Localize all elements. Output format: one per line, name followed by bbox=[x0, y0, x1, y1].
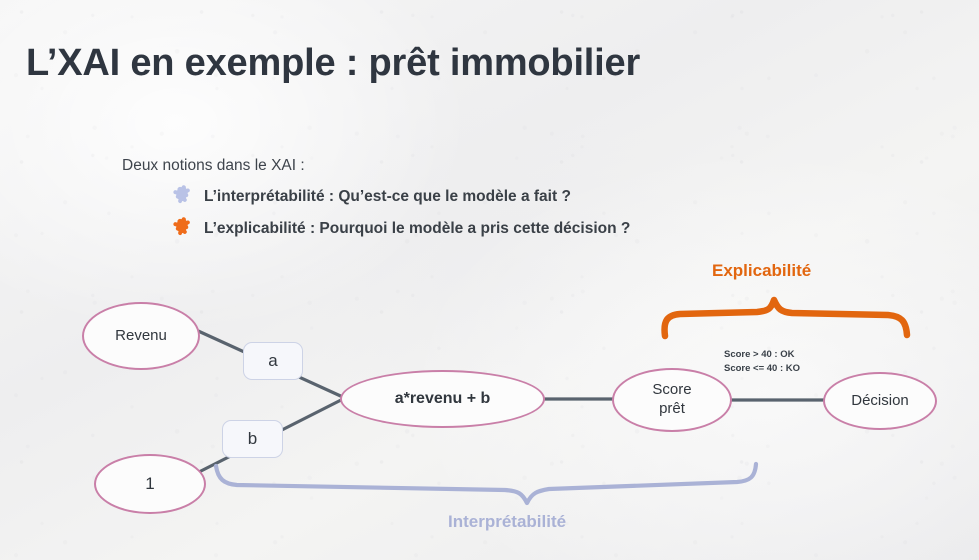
interpretabilite-brace bbox=[216, 464, 756, 503]
label-interpretabilite: Interprétabilité bbox=[448, 512, 566, 532]
score-rule-line1: Score > 40 : OK bbox=[724, 348, 800, 362]
score-threshold-annotation: Score > 40 : OK Score <= 40 : KO bbox=[724, 348, 800, 376]
node-one[interactable]: 1 bbox=[94, 454, 206, 514]
node-revenu[interactable]: Revenu bbox=[82, 302, 200, 370]
label-explicabilite: Explicabilité bbox=[712, 261, 811, 281]
param-box-b[interactable]: b bbox=[222, 420, 283, 458]
slide-canvas: L’XAI en exemple : prêt immobilier Deux … bbox=[0, 0, 979, 560]
param-box-a[interactable]: a bbox=[243, 342, 303, 380]
node-decision[interactable]: Décision bbox=[823, 372, 937, 430]
score-rule-line2: Score <= 40 : KO bbox=[724, 362, 800, 376]
node-score-line1: Score bbox=[652, 381, 691, 400]
node-score[interactable]: Score prêt bbox=[612, 368, 732, 432]
node-score-line2: prêt bbox=[652, 400, 691, 419]
explicabilite-brace bbox=[665, 300, 907, 336]
node-formula[interactable]: a*revenu + b bbox=[340, 370, 545, 428]
